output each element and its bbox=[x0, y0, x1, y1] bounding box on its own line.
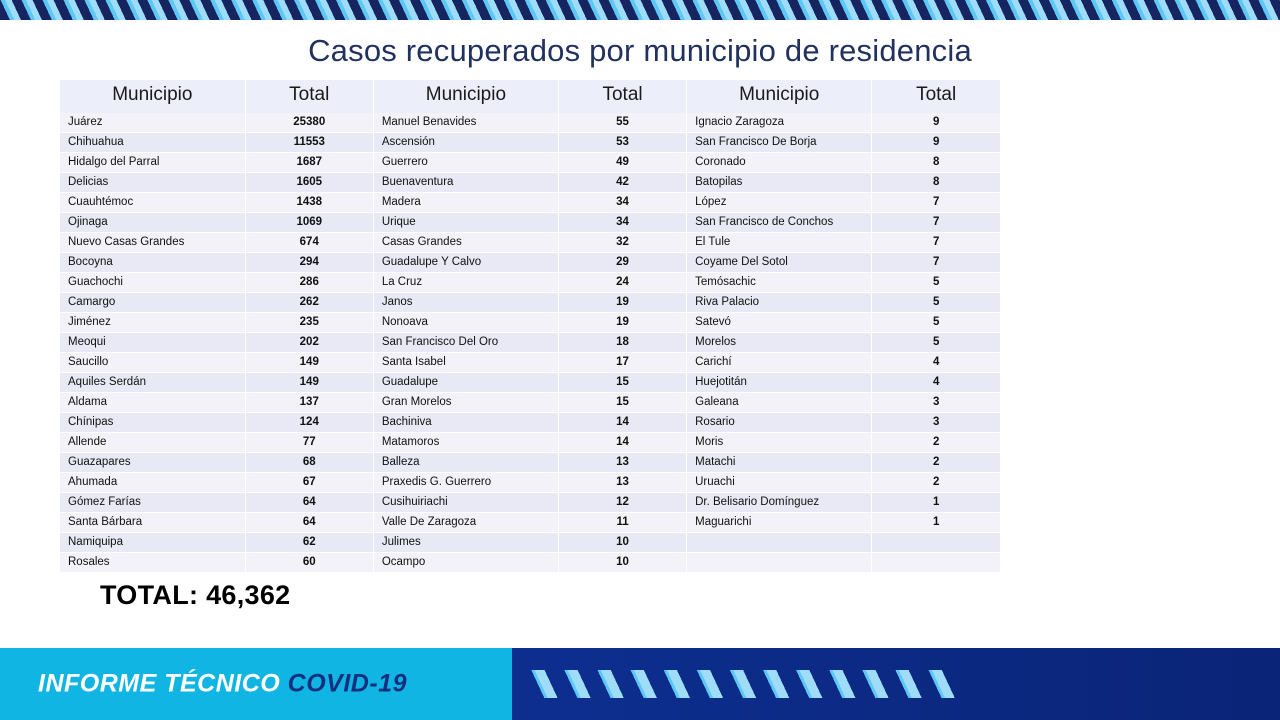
footer-brand-covid: COVID-19 bbox=[288, 670, 407, 698]
cell-total: 1069 bbox=[245, 213, 373, 233]
cell-total: 2 bbox=[872, 433, 1000, 453]
cell-municipio: El Tule bbox=[687, 233, 872, 253]
footer-bar: INFORME TÉCNICO COVID-19 Chihuahua GOBIE… bbox=[0, 648, 1280, 720]
cell-total: 19 bbox=[559, 313, 687, 333]
cell-total: 18 bbox=[559, 333, 687, 353]
table-row: Chínipas124Bachiniva14Rosario3 bbox=[60, 413, 1000, 433]
cell-municipio: Camargo bbox=[60, 293, 245, 313]
cell-total: 9 bbox=[872, 113, 1000, 133]
cell-total: 286 bbox=[245, 273, 373, 293]
cell-municipio: Galeana bbox=[687, 393, 872, 413]
cell-municipio: Guazapares bbox=[60, 453, 245, 473]
cell-municipio: Guerrero bbox=[373, 153, 558, 173]
cell-total: 5 bbox=[872, 333, 1000, 353]
table-row: Meoqui202San Francisco Del Oro18Morelos5 bbox=[60, 333, 1000, 353]
cell-municipio: Namiquipa bbox=[60, 533, 245, 553]
cell-municipio: Saucillo bbox=[60, 353, 245, 373]
cell-municipio: Chihuahua bbox=[60, 133, 245, 153]
table-row: Guazapares68Balleza13Matachi2 bbox=[60, 453, 1000, 473]
footer-brand-text: INFORME TÉCNICO COVID-19 bbox=[38, 670, 407, 699]
cell-municipio: Hidalgo del Parral bbox=[60, 153, 245, 173]
cell-total: 5 bbox=[872, 313, 1000, 333]
cell-total: 1 bbox=[872, 513, 1000, 533]
table-row: Santa Bárbara64Valle De Zaragoza11Maguar… bbox=[60, 513, 1000, 533]
cell-municipio: Rosario bbox=[687, 413, 872, 433]
cell-total: 64 bbox=[245, 493, 373, 513]
page-title: Casos recuperados por municipio de resid… bbox=[0, 33, 1280, 69]
footer-brand-block: INFORME TÉCNICO COVID-19 bbox=[0, 648, 512, 720]
cell-total: 137 bbox=[245, 393, 373, 413]
cell-municipio: Ojinaga bbox=[60, 213, 245, 233]
cell-total: 9 bbox=[872, 133, 1000, 153]
cell-municipio: Madera bbox=[373, 193, 558, 213]
cell-total: 49 bbox=[559, 153, 687, 173]
table-row: Aldama137Gran Morelos15Galeana3 bbox=[60, 393, 1000, 413]
cell-total: 34 bbox=[559, 213, 687, 233]
cell-total: 674 bbox=[245, 233, 373, 253]
table-row: Allende77Matamoros14Moris2 bbox=[60, 433, 1000, 453]
cell-municipio: Santa Isabel bbox=[373, 353, 558, 373]
cell-municipio: Ahumada bbox=[60, 473, 245, 493]
cell-total bbox=[872, 553, 1000, 573]
cell-municipio: López bbox=[687, 193, 872, 213]
col-header-total-1: Total bbox=[245, 80, 373, 113]
col-header-total-2: Total bbox=[559, 80, 687, 113]
cell-total: 42 bbox=[559, 173, 687, 193]
table-row: Bocoyna294Guadalupe Y Calvo29Coyame Del … bbox=[60, 253, 1000, 273]
municipios-table-container: Municipio Total Municipio Total Municipi… bbox=[60, 80, 1000, 573]
cell-total: 77 bbox=[245, 433, 373, 453]
cell-municipio: Urique bbox=[373, 213, 558, 233]
cell-municipio: Guadalupe bbox=[373, 373, 558, 393]
table-body: Juárez25380Manuel Benavides55Ignacio Zar… bbox=[60, 113, 1000, 573]
cell-total: 1438 bbox=[245, 193, 373, 213]
cell-total: 19 bbox=[559, 293, 687, 313]
cell-total: 25380 bbox=[245, 113, 373, 133]
cell-municipio: Jiménez bbox=[60, 313, 245, 333]
cell-municipio: Bachiniva bbox=[373, 413, 558, 433]
cell-total bbox=[872, 533, 1000, 553]
cell-total: 55 bbox=[559, 113, 687, 133]
cell-municipio bbox=[687, 533, 872, 553]
table-row: Ahumada67Praxedis G. Guerrero13Uruachi2 bbox=[60, 473, 1000, 493]
cell-municipio: Cusihuiriachi bbox=[373, 493, 558, 513]
table-row: Rosales60Ocampo10 bbox=[60, 553, 1000, 573]
cell-total: 68 bbox=[245, 453, 373, 473]
cell-total: 3 bbox=[872, 393, 1000, 413]
cell-municipio: Allende bbox=[60, 433, 245, 453]
top-diagonal-stripe-band bbox=[0, 0, 1280, 20]
cell-total: 17 bbox=[559, 353, 687, 373]
cell-municipio: Delicias bbox=[60, 173, 245, 193]
cell-total: 12 bbox=[559, 493, 687, 513]
cell-municipio: Chínipas bbox=[60, 413, 245, 433]
cell-total: 15 bbox=[559, 393, 687, 413]
cell-total: 2 bbox=[872, 473, 1000, 493]
cell-total: 67 bbox=[245, 473, 373, 493]
cell-municipio: Guachochi bbox=[60, 273, 245, 293]
cell-municipio: Aquiles Serdán bbox=[60, 373, 245, 393]
table-row: Jiménez235Nonoava19Satevó5 bbox=[60, 313, 1000, 333]
cell-total: 62 bbox=[245, 533, 373, 553]
table-row: Gómez Farías64Cusihuiriachi12Dr. Belisar… bbox=[60, 493, 1000, 513]
cell-municipio: San Francisco Del Oro bbox=[373, 333, 558, 353]
cell-total: 4 bbox=[872, 373, 1000, 393]
footer-diagonal-stripes bbox=[530, 670, 960, 698]
cell-total: 64 bbox=[245, 513, 373, 533]
cell-municipio: Nuevo Casas Grandes bbox=[60, 233, 245, 253]
table-row: Namiquipa62Julimes10 bbox=[60, 533, 1000, 553]
cell-total: 8 bbox=[872, 173, 1000, 193]
table-row: Hidalgo del Parral1687Guerrero49Coronado… bbox=[60, 153, 1000, 173]
table-row: Camargo262Janos19Riva Palacio5 bbox=[60, 293, 1000, 313]
cell-total: 202 bbox=[245, 333, 373, 353]
cell-total: 3 bbox=[872, 413, 1000, 433]
cell-total: 14 bbox=[559, 433, 687, 453]
table-row: Ojinaga1069Urique34San Francisco de Conc… bbox=[60, 213, 1000, 233]
cell-total: 14 bbox=[559, 413, 687, 433]
cell-municipio: Bocoyna bbox=[60, 253, 245, 273]
cell-total: 7 bbox=[872, 233, 1000, 253]
cell-total: 5 bbox=[872, 273, 1000, 293]
cell-total: 15 bbox=[559, 373, 687, 393]
table-row: Delicias1605Buenaventura42Batopilas8 bbox=[60, 173, 1000, 193]
cell-municipio: Valle De Zaragoza bbox=[373, 513, 558, 533]
cell-total: 7 bbox=[872, 213, 1000, 233]
cell-municipio: Julimes bbox=[373, 533, 558, 553]
cell-total: 32 bbox=[559, 233, 687, 253]
cell-municipio: San Francisco de Conchos bbox=[687, 213, 872, 233]
cell-municipio: Maguarichi bbox=[687, 513, 872, 533]
cell-municipio: Balleza bbox=[373, 453, 558, 473]
cell-total: 7 bbox=[872, 253, 1000, 273]
cell-total: 13 bbox=[559, 473, 687, 493]
cell-total: 29 bbox=[559, 253, 687, 273]
col-header-municipio-2: Municipio bbox=[373, 80, 558, 113]
cell-municipio bbox=[687, 553, 872, 573]
table-row: Cuauhtémoc1438Madera34López7 bbox=[60, 193, 1000, 213]
cell-municipio: Morelos bbox=[687, 333, 872, 353]
cell-municipio: Manuel Benavides bbox=[373, 113, 558, 133]
cell-total: 124 bbox=[245, 413, 373, 433]
slide-root: Casos recuperados por municipio de resid… bbox=[0, 0, 1280, 720]
cell-total: 149 bbox=[245, 373, 373, 393]
cell-total: 294 bbox=[245, 253, 373, 273]
cell-municipio: Riva Palacio bbox=[687, 293, 872, 313]
cell-municipio: Gómez Farías bbox=[60, 493, 245, 513]
cell-total: 11553 bbox=[245, 133, 373, 153]
cell-municipio: Buenaventura bbox=[373, 173, 558, 193]
cell-municipio: Rosales bbox=[60, 553, 245, 573]
cell-municipio: Santa Bárbara bbox=[60, 513, 245, 533]
cell-total: 149 bbox=[245, 353, 373, 373]
cell-total: 1605 bbox=[245, 173, 373, 193]
cell-total: 7 bbox=[872, 193, 1000, 213]
cell-total: 5 bbox=[872, 293, 1000, 313]
cell-municipio: Aldama bbox=[60, 393, 245, 413]
municipios-table: Municipio Total Municipio Total Municipi… bbox=[60, 80, 1000, 573]
cell-municipio: Moris bbox=[687, 433, 872, 453]
cell-municipio: Ascensión bbox=[373, 133, 558, 153]
cell-municipio: La Cruz bbox=[373, 273, 558, 293]
table-header-row: Municipio Total Municipio Total Municipi… bbox=[60, 80, 1000, 113]
cell-municipio: Casas Grandes bbox=[373, 233, 558, 253]
cell-municipio: Coyame Del Sotol bbox=[687, 253, 872, 273]
col-header-total-3: Total bbox=[872, 80, 1000, 113]
cell-municipio: Matachi bbox=[687, 453, 872, 473]
cell-municipio: Juárez bbox=[60, 113, 245, 133]
col-header-municipio-3: Municipio bbox=[687, 80, 872, 113]
cell-municipio: Temósachic bbox=[687, 273, 872, 293]
cell-municipio: Coronado bbox=[687, 153, 872, 173]
cell-total: 34 bbox=[559, 193, 687, 213]
cell-total: 10 bbox=[559, 553, 687, 573]
cell-municipio: Huejotitán bbox=[687, 373, 872, 393]
table-row: Guachochi286La Cruz24Temósachic5 bbox=[60, 273, 1000, 293]
cell-total: 1 bbox=[872, 493, 1000, 513]
cell-total: 1687 bbox=[245, 153, 373, 173]
cell-municipio: Carichí bbox=[687, 353, 872, 373]
cell-municipio: Batopilas bbox=[687, 173, 872, 193]
table-row: Nuevo Casas Grandes674Casas Grandes32El … bbox=[60, 233, 1000, 253]
cell-total: 4 bbox=[872, 353, 1000, 373]
table-row: Juárez25380Manuel Benavides55Ignacio Zar… bbox=[60, 113, 1000, 133]
cell-municipio: Nonoava bbox=[373, 313, 558, 333]
cell-municipio: Uruachi bbox=[687, 473, 872, 493]
cell-municipio: Ocampo bbox=[373, 553, 558, 573]
cell-municipio: Janos bbox=[373, 293, 558, 313]
cell-municipio: Gran Morelos bbox=[373, 393, 558, 413]
table-row: Chihuahua11553Ascensión53San Francisco D… bbox=[60, 133, 1000, 153]
cell-total: 262 bbox=[245, 293, 373, 313]
cell-total: 53 bbox=[559, 133, 687, 153]
cell-total: 11 bbox=[559, 513, 687, 533]
cell-municipio: Satevó bbox=[687, 313, 872, 333]
cell-total: 235 bbox=[245, 313, 373, 333]
footer-brand-informe: INFORME TÉCNICO bbox=[38, 670, 288, 698]
col-header-municipio-1: Municipio bbox=[60, 80, 245, 113]
cell-total: 24 bbox=[559, 273, 687, 293]
cell-municipio: Praxedis G. Guerrero bbox=[373, 473, 558, 493]
cell-municipio: Meoqui bbox=[60, 333, 245, 353]
cell-total: 8 bbox=[872, 153, 1000, 173]
cell-municipio: Matamoros bbox=[373, 433, 558, 453]
total-label: TOTAL: 46,362 bbox=[100, 580, 290, 611]
table-head: Municipio Total Municipio Total Municipi… bbox=[60, 80, 1000, 113]
cell-municipio: Ignacio Zaragoza bbox=[687, 113, 872, 133]
cell-municipio: Dr. Belisario Domínguez bbox=[687, 493, 872, 513]
cell-municipio: Cuauhtémoc bbox=[60, 193, 245, 213]
cell-total: 2 bbox=[872, 453, 1000, 473]
cell-municipio: San Francisco De Borja bbox=[687, 133, 872, 153]
cell-municipio: Guadalupe Y Calvo bbox=[373, 253, 558, 273]
table-row: Aquiles Serdán149Guadalupe15Huejotitán4 bbox=[60, 373, 1000, 393]
cell-total: 10 bbox=[559, 533, 687, 553]
cell-total: 13 bbox=[559, 453, 687, 473]
table-row: Saucillo149Santa Isabel17Carichí4 bbox=[60, 353, 1000, 373]
cell-total: 60 bbox=[245, 553, 373, 573]
